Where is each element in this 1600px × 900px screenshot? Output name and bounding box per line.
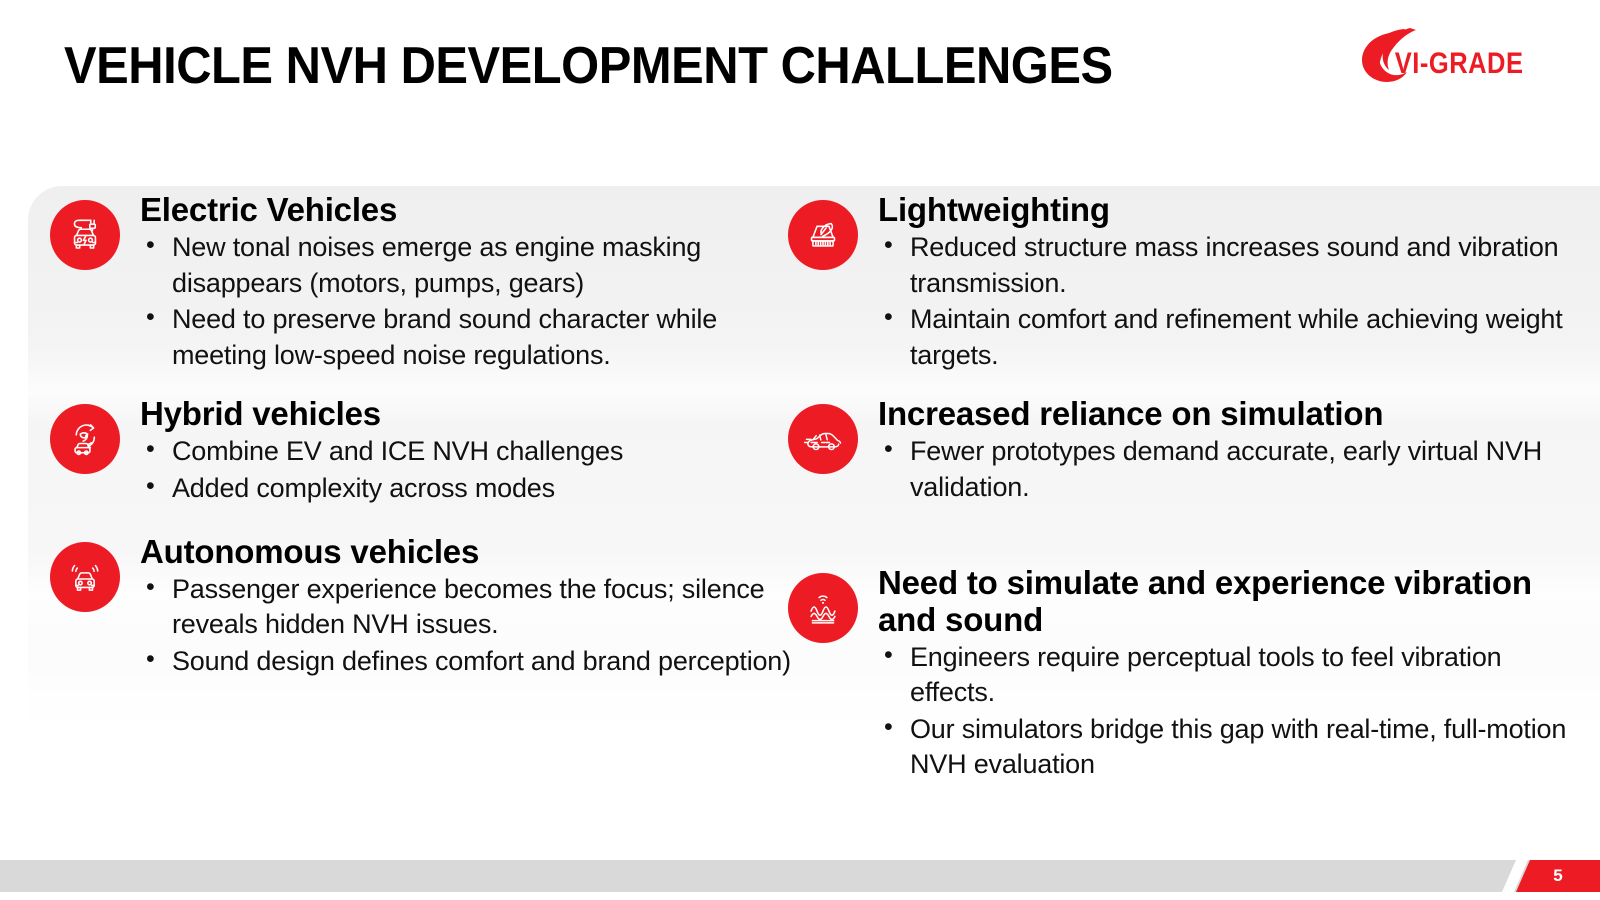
challenge-block-electric-vehicles: Electric Vehicles New tonal noises emerg… bbox=[50, 192, 810, 374]
hybrid-eco-car-icon bbox=[50, 404, 120, 474]
bullet-list: Fewer prototypes demand accurate, early … bbox=[878, 434, 1588, 505]
bullet-item: Maintain comfort and refinement while ac… bbox=[878, 302, 1588, 373]
block-title: Hybrid vehicles bbox=[140, 396, 810, 433]
block-body: Need to simulate and experience vibratio… bbox=[858, 565, 1588, 784]
page-number: 5 bbox=[1516, 860, 1600, 892]
block-body: Increased reliance on simulation Fewer p… bbox=[858, 396, 1588, 506]
bullet-item: Added complexity across modes bbox=[140, 471, 810, 507]
right-column: Lightweighting Reduced structure mass in… bbox=[788, 192, 1588, 784]
slide-canvas: VEHICLE NVH DEVELOPMENT CHALLENGES VI-GR… bbox=[0, 0, 1600, 900]
block-title: Need to simulate and experience vibratio… bbox=[878, 565, 1588, 639]
block-body: Lightweighting Reduced structure mass in… bbox=[858, 192, 1588, 374]
feather-scale-icon bbox=[788, 200, 858, 270]
slide-header: VEHICLE NVH DEVELOPMENT CHALLENGES VI-GR… bbox=[0, 0, 1600, 140]
bullet-item: Need to preserve brand sound character w… bbox=[140, 302, 810, 373]
bullet-item: Reduced structure mass increases sound a… bbox=[878, 230, 1588, 301]
vi-grade-logo: VI-GRADE bbox=[1356, 26, 1538, 88]
bullet-list: Combine EV and ICE NVH challenges Added … bbox=[140, 434, 810, 506]
bullet-item: Combine EV and ICE NVH challenges bbox=[140, 434, 810, 470]
block-body: Electric Vehicles New tonal noises emerg… bbox=[120, 192, 810, 374]
bullet-item: Sound design defines comfort and brand p… bbox=[140, 644, 810, 680]
icon-wrapper bbox=[788, 404, 858, 474]
vibration-waves-icon bbox=[788, 573, 858, 643]
page-title: VEHICLE NVH DEVELOPMENT CHALLENGES bbox=[64, 36, 1113, 96]
block-title: Electric Vehicles bbox=[140, 192, 810, 229]
icon-wrapper bbox=[50, 200, 120, 270]
bullet-item: Our simulators bridge this gap with real… bbox=[878, 712, 1588, 783]
bullet-list: Reduced structure mass increases sound a… bbox=[878, 230, 1588, 374]
icon-wrapper bbox=[50, 404, 120, 474]
block-title: Autonomous vehicles bbox=[140, 534, 810, 571]
autonomous-sensor-car-icon bbox=[50, 542, 120, 612]
bullet-item: Passenger experience becomes the focus; … bbox=[140, 572, 810, 643]
icon-wrapper bbox=[50, 542, 120, 612]
block-title: Lightweighting bbox=[878, 192, 1588, 229]
challenge-block-increased-reliance-on-simulation: Increased reliance on simulation Fewer p… bbox=[788, 396, 1588, 506]
challenge-block-autonomous-vehicles: Autonomous vehicles Passenger experience… bbox=[50, 534, 810, 681]
bullet-item: New tonal noises emerge as engine maskin… bbox=[140, 230, 810, 301]
left-column: Electric Vehicles New tonal noises emerg… bbox=[50, 192, 810, 680]
icon-wrapper bbox=[788, 573, 858, 643]
bullet-list: Engineers require perceptual tools to fe… bbox=[878, 640, 1588, 784]
svg-text:VI-GRADE: VI-GRADE bbox=[1395, 46, 1524, 79]
bullet-item: Engineers require perceptual tools to fe… bbox=[878, 640, 1588, 711]
block-body: Hybrid vehicles Combine EV and ICE NVH c… bbox=[120, 396, 810, 507]
block-title: Increased reliance on simulation bbox=[878, 396, 1588, 433]
footer-bar bbox=[0, 860, 1540, 892]
bullet-list: Passenger experience becomes the focus; … bbox=[140, 572, 810, 680]
icon-wrapper bbox=[788, 200, 858, 270]
bullet-item: Fewer prototypes demand accurate, early … bbox=[878, 434, 1588, 505]
sports-car-icon bbox=[788, 404, 858, 474]
challenge-block-vibration-and-sound: Need to simulate and experience vibratio… bbox=[788, 565, 1588, 784]
challenge-block-hybrid-vehicles: Hybrid vehicles Combine EV and ICE NVH c… bbox=[50, 396, 810, 507]
bullet-list: New tonal noises emerge as engine maskin… bbox=[140, 230, 810, 374]
ev-charging-car-icon bbox=[50, 200, 120, 270]
block-body: Autonomous vehicles Passenger experience… bbox=[120, 534, 810, 681]
challenge-block-lightweighting: Lightweighting Reduced structure mass in… bbox=[788, 192, 1588, 374]
